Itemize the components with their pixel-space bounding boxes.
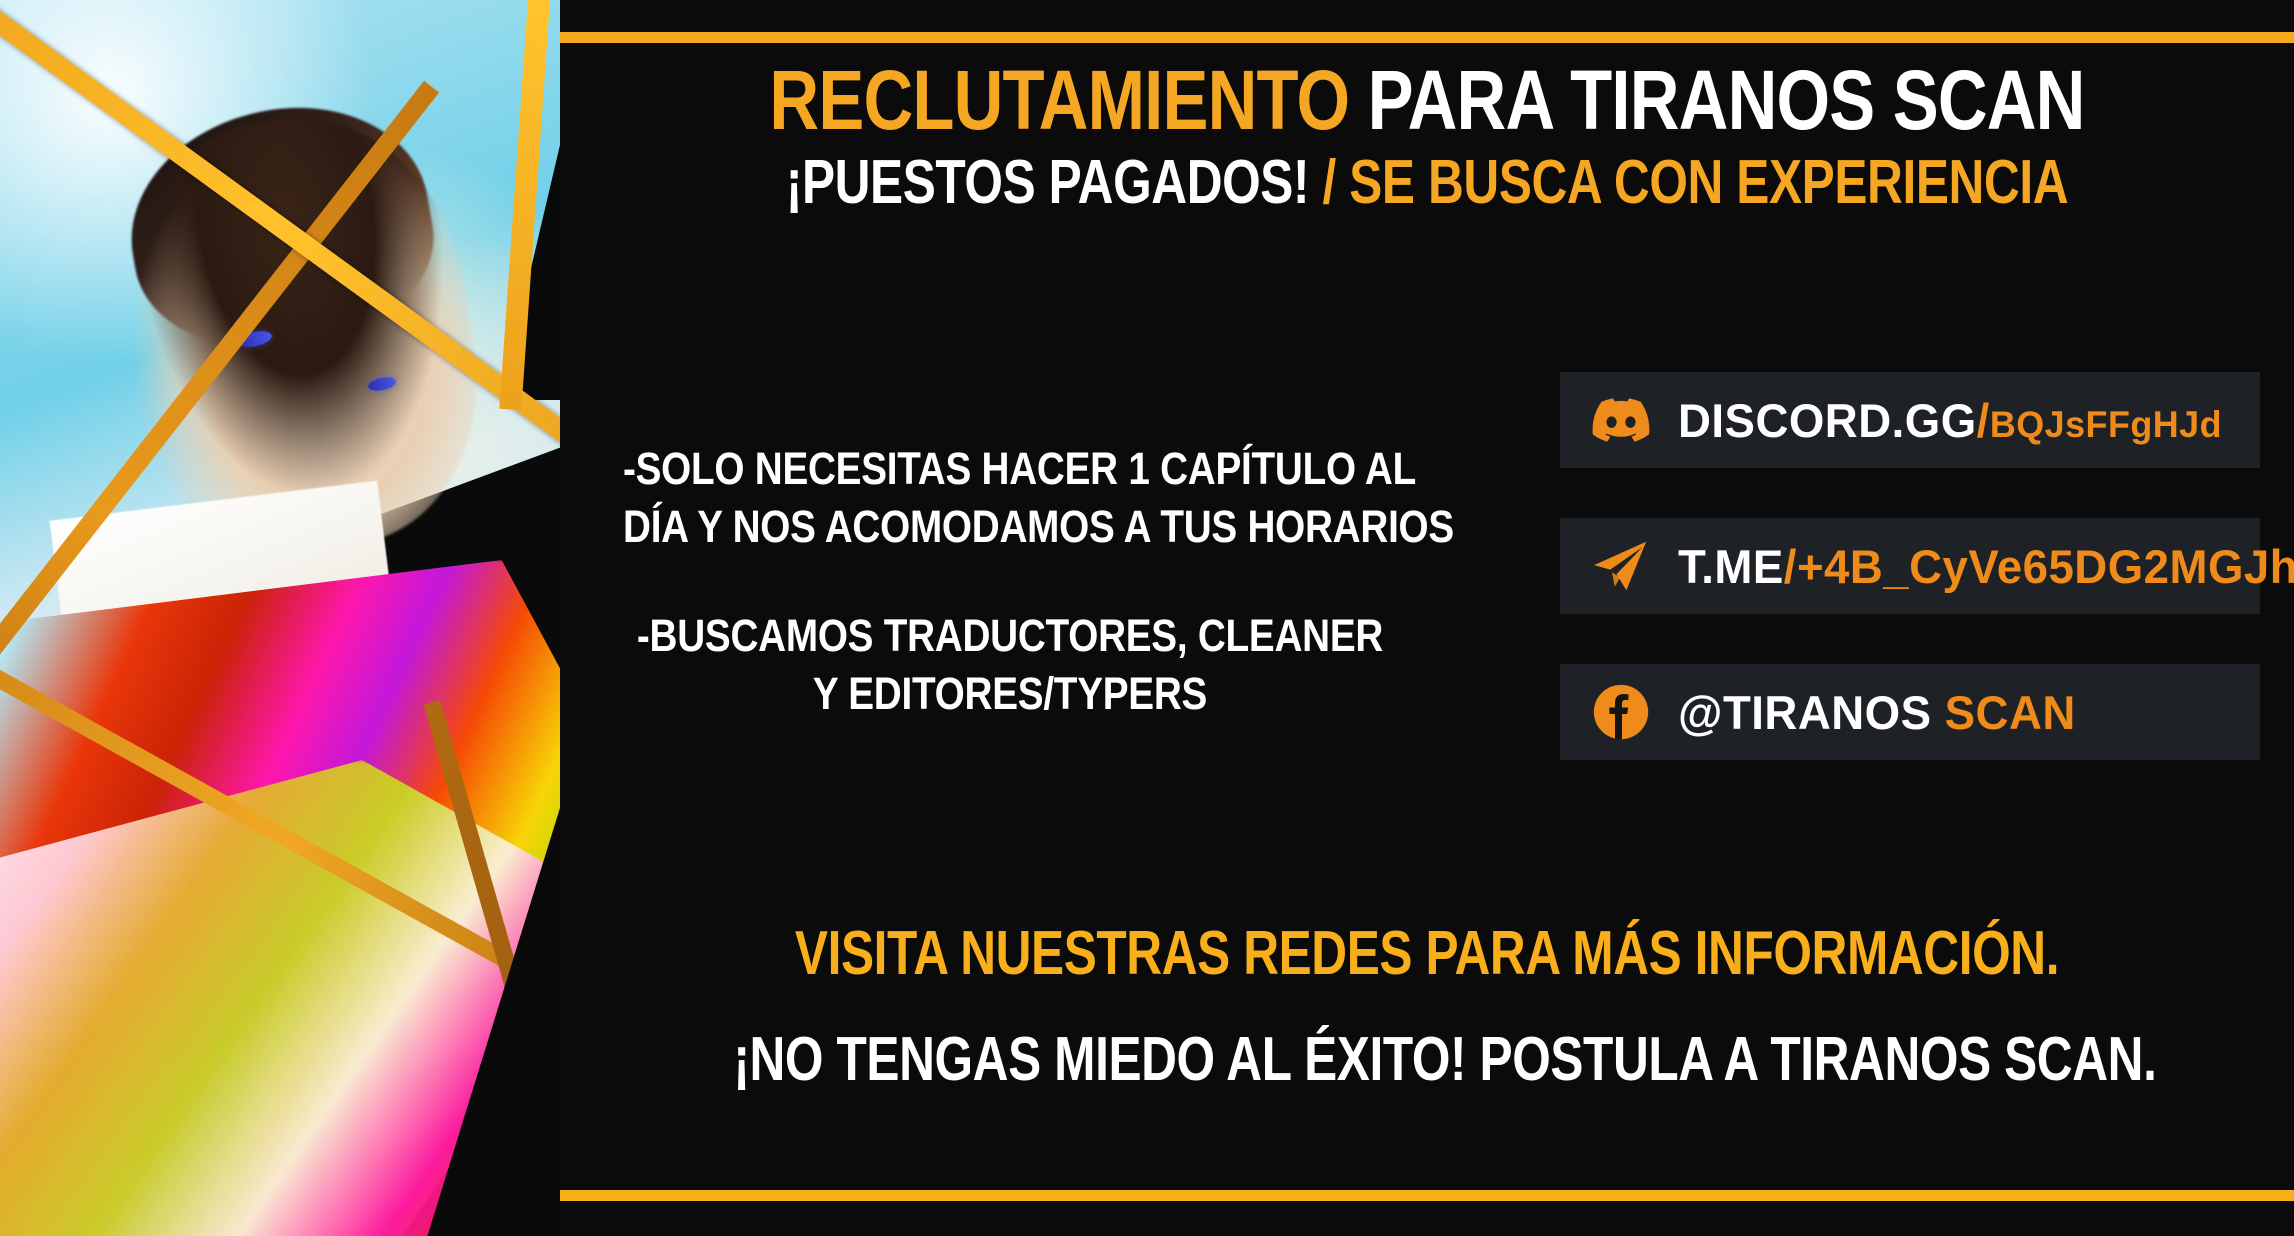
telegram-domain: T.ME bbox=[1678, 540, 1784, 593]
bullet-2-line-1: -BUSCAMOS TRADUCTORES, CLEANER bbox=[623, 607, 1397, 665]
call-to-action: VISITA NUESTRAS REDES PARA MÁS INFORMACI… bbox=[560, 920, 2294, 1094]
paragraph-spacer bbox=[560, 555, 1460, 607]
discord-link-text: DISCORD.GG/BQJsFFgHJd bbox=[1678, 393, 2222, 448]
headline: RECLUTAMIENTO PARA TIRANOS SCAN bbox=[716, 58, 2138, 142]
subheadline-white-part: ¡PUESTOS PAGADOS! bbox=[786, 148, 1309, 217]
discord-icon bbox=[1590, 389, 1652, 451]
artwork-panel bbox=[0, 0, 620, 1236]
contact-card-telegram[interactable]: T.ME/+4B_CyVe65DG2MGJh bbox=[1560, 518, 2260, 614]
facebook-separator bbox=[1932, 686, 1945, 739]
discord-domain: DISCORD.GG bbox=[1678, 394, 1977, 447]
bottom-gold-rule bbox=[560, 1190, 2294, 1201]
discord-separator: / bbox=[1977, 394, 1990, 447]
telegram-icon bbox=[1590, 535, 1652, 597]
facebook-handle-suffix: SCAN bbox=[1945, 686, 2076, 739]
requirements-block: -SOLO NECESITAS HACER 1 CAPÍTULO AL DÍA … bbox=[560, 440, 1460, 722]
subheadline: ¡PUESTOS PAGADOS! / SE BUSCA CON EXPERIE… bbox=[733, 152, 2120, 214]
telegram-link-text: T.ME/+4B_CyVe65DG2MGJh bbox=[1678, 539, 2294, 594]
discord-invite-code: BQJsFFgHJd bbox=[1990, 404, 2222, 445]
top-gold-rule bbox=[560, 32, 2294, 43]
bullet-2-line-2: Y EDITORES/TYPERS bbox=[623, 665, 1397, 723]
cta-line-1: VISITA NUESTRAS REDES PARA MÁS INFORMACI… bbox=[733, 920, 2120, 988]
facebook-icon bbox=[1590, 681, 1652, 743]
bullet-1-line-1: -SOLO NECESITAS HACER 1 CAPÍTULO AL bbox=[623, 440, 1397, 498]
telegram-separator: / bbox=[1784, 540, 1797, 593]
contact-card-discord[interactable]: DISCORD.GG/BQJsFFgHJd bbox=[1560, 372, 2260, 468]
facebook-link-text: @TIRANOS SCAN bbox=[1678, 685, 2076, 740]
content-panel: RECLUTAMIENTO PARA TIRANOS SCAN ¡PUESTOS… bbox=[560, 0, 2294, 1236]
contact-card-facebook[interactable]: @TIRANOS SCAN bbox=[1560, 664, 2260, 760]
headline-gold-part: RECLUTAMIENTO bbox=[769, 53, 1349, 147]
cta-line-2: ¡NO TENGAS MIEDO AL ÉXITO! POSTULA A TIR… bbox=[733, 1026, 2120, 1094]
contact-card-list: DISCORD.GG/BQJsFFgHJd T.ME/+4B_CyVe65DG2… bbox=[1560, 372, 2260, 810]
subheadline-gold-part: / SE BUSCA CON EXPERIENCIA bbox=[1322, 148, 2068, 217]
telegram-invite-code: +4B_CyVe65DG2MGJh bbox=[1797, 540, 2294, 593]
bullet-1-line-2: DÍA Y NOS ACOMODAMOS A TUS HORARIOS bbox=[623, 498, 1397, 556]
recruitment-banner: RECLUTAMIENTO PARA TIRANOS SCAN ¡PUESTOS… bbox=[0, 0, 2294, 1236]
headline-white-part: PARA TIRANOS SCAN bbox=[1368, 53, 2085, 147]
facebook-handle: @TIRANOS bbox=[1678, 686, 1932, 739]
